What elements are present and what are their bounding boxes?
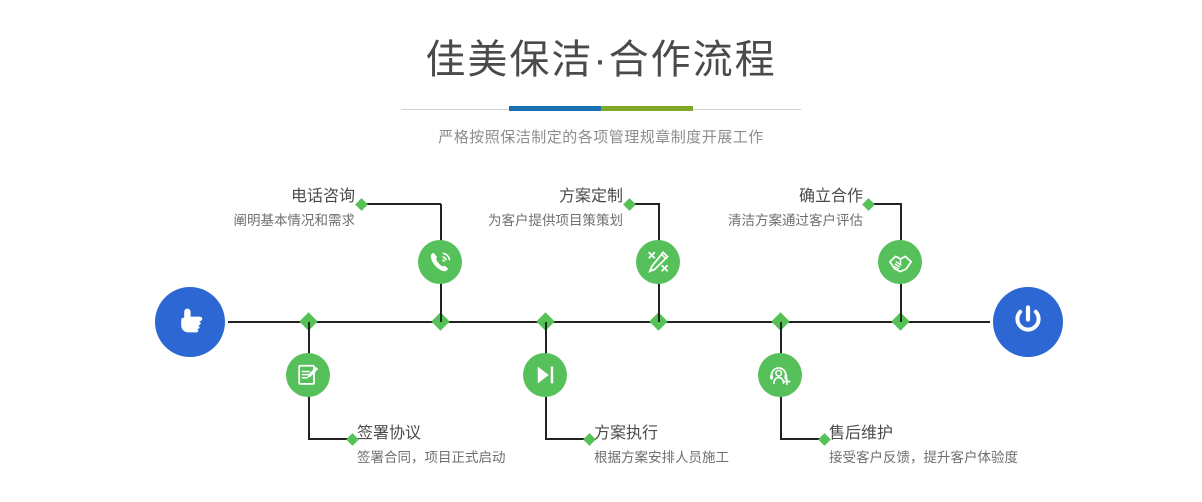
pointing-hand-icon (170, 300, 210, 345)
step-title: 方案执行 (594, 424, 854, 444)
label-leader-dot (862, 198, 875, 211)
step-title: 方案定制 (380, 187, 623, 207)
play-execute-icon (532, 362, 558, 388)
step-icon-handshake[interactable] (878, 240, 922, 284)
step-icon-pencil-design[interactable] (636, 240, 680, 284)
step-title: 电话咨询 (100, 187, 355, 207)
timeline-axis (228, 321, 990, 323)
step-desc: 清洁方案通过客户评估 (620, 212, 863, 230)
step-label-2: 签署协议 签署合同，项目正式启动 (357, 424, 617, 467)
step-desc: 为客户提供项目策策划 (380, 212, 623, 230)
step-label-6: 售后维护 接受客户反馈，提升客户体验度 (829, 424, 1109, 467)
customer-support-add-icon (767, 362, 793, 388)
step-icon-play-execute[interactable] (523, 353, 567, 397)
step-title: 签署协议 (357, 424, 617, 444)
label-leader-dot (355, 198, 368, 211)
step-icon-phone-call[interactable] (418, 240, 462, 284)
timeline-end-node (993, 287, 1063, 357)
handshake-icon (887, 249, 914, 276)
step-desc: 根据方案安排人员施工 (594, 449, 854, 467)
step-icon-contract[interactable] (286, 353, 330, 397)
step-icon-customer-support[interactable] (758, 353, 802, 397)
contract-document-icon (295, 362, 321, 388)
step-label-1: 电话咨询 阐明基本情况和需求 (100, 187, 355, 230)
power-button-icon (1008, 300, 1048, 345)
phone-call-icon (427, 249, 454, 276)
step-label-4: 方案执行 根据方案安排人员施工 (594, 424, 854, 467)
step-label-3: 方案定制 为客户提供项目策策划 (380, 187, 623, 230)
step-title: 确立合作 (620, 187, 863, 207)
pencil-design-icon (645, 249, 671, 275)
step-desc: 签署合同，项目正式启动 (357, 449, 617, 467)
step-label-5: 确立合作 清洁方案通过客户评估 (620, 187, 863, 230)
step-title: 售后维护 (829, 424, 1109, 444)
process-timeline: 电话咨询 阐明基本情况和需求 签署协议 签署合同，项目正式启动 (0, 0, 1202, 502)
label-leader-line (872, 203, 902, 205)
step-desc: 阐明基本情况和需求 (100, 212, 355, 230)
timeline-start-node (155, 287, 225, 357)
step-desc: 接受客户反馈，提升客户体验度 (829, 449, 1109, 467)
